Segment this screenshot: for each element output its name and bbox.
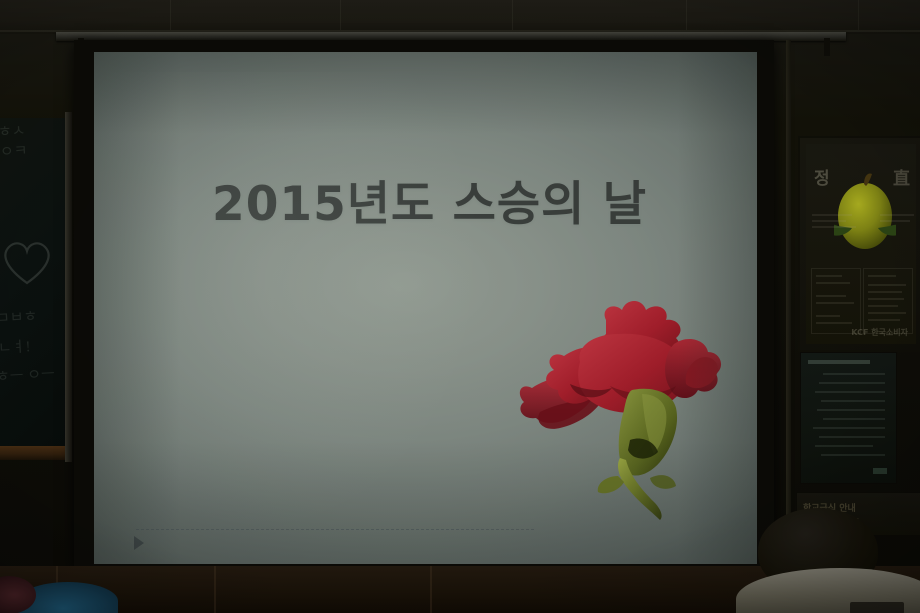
screen-sheen [94, 72, 492, 543]
green-pear-icon [834, 172, 896, 254]
chalk-line-4: ㅎㅡ ㅇㅡ [0, 366, 55, 386]
chalk-heart-drawing [0, 238, 54, 286]
chalk-line-0: ㅎㅅ [0, 123, 26, 142]
poster-panel-left [811, 268, 861, 334]
lower-wall-seam-2 [214, 566, 216, 613]
chalkboard-frame [65, 112, 72, 462]
classroom-scene: ㅎㅅ ㅇㅋ ㅁㅂㅎ ㄴㅕ! ㅎㅡ ㅇㅡ 2015년도 스승의 날 [0, 0, 920, 613]
chalk-line-3: ㄴㅕ! [0, 339, 31, 358]
poster-fruit-title: 정 [814, 164, 832, 189]
poster-fruit: 정 直 [798, 136, 920, 352]
wall-divider [786, 40, 791, 560]
ceiling-tiles [0, 0, 920, 34]
slide-triangle-marker [134, 536, 144, 550]
red-carnation-flower-icon [514, 290, 734, 520]
poster-document [800, 352, 897, 484]
projection-screen-frame: 2015년도 스승의 날 [74, 40, 774, 568]
projection-screen-surface: 2015년도 스승의 날 [94, 52, 757, 564]
classroom-chalkboard: ㅎㅅ ㅇㅋ ㅁㅂㅎ ㄴㅕ! ㅎㅡ ㅇㅡ [0, 118, 71, 448]
poster-panel-right [863, 268, 913, 334]
slide-title: 2015년도 스승의 날 [212, 180, 692, 229]
chalk-line-1: ㅇㅋ [0, 143, 28, 162]
poster-fruit-logo: KCF 한국소비자 [851, 327, 908, 338]
student-foreground [742, 506, 920, 613]
slide-dashed-rule [136, 529, 534, 530]
lower-wall-seam-3 [430, 566, 432, 613]
rail-bracket-right [824, 38, 830, 56]
chalk-line-2: ㅁㅂㅎ [0, 309, 38, 328]
chalk-tray [0, 446, 68, 460]
